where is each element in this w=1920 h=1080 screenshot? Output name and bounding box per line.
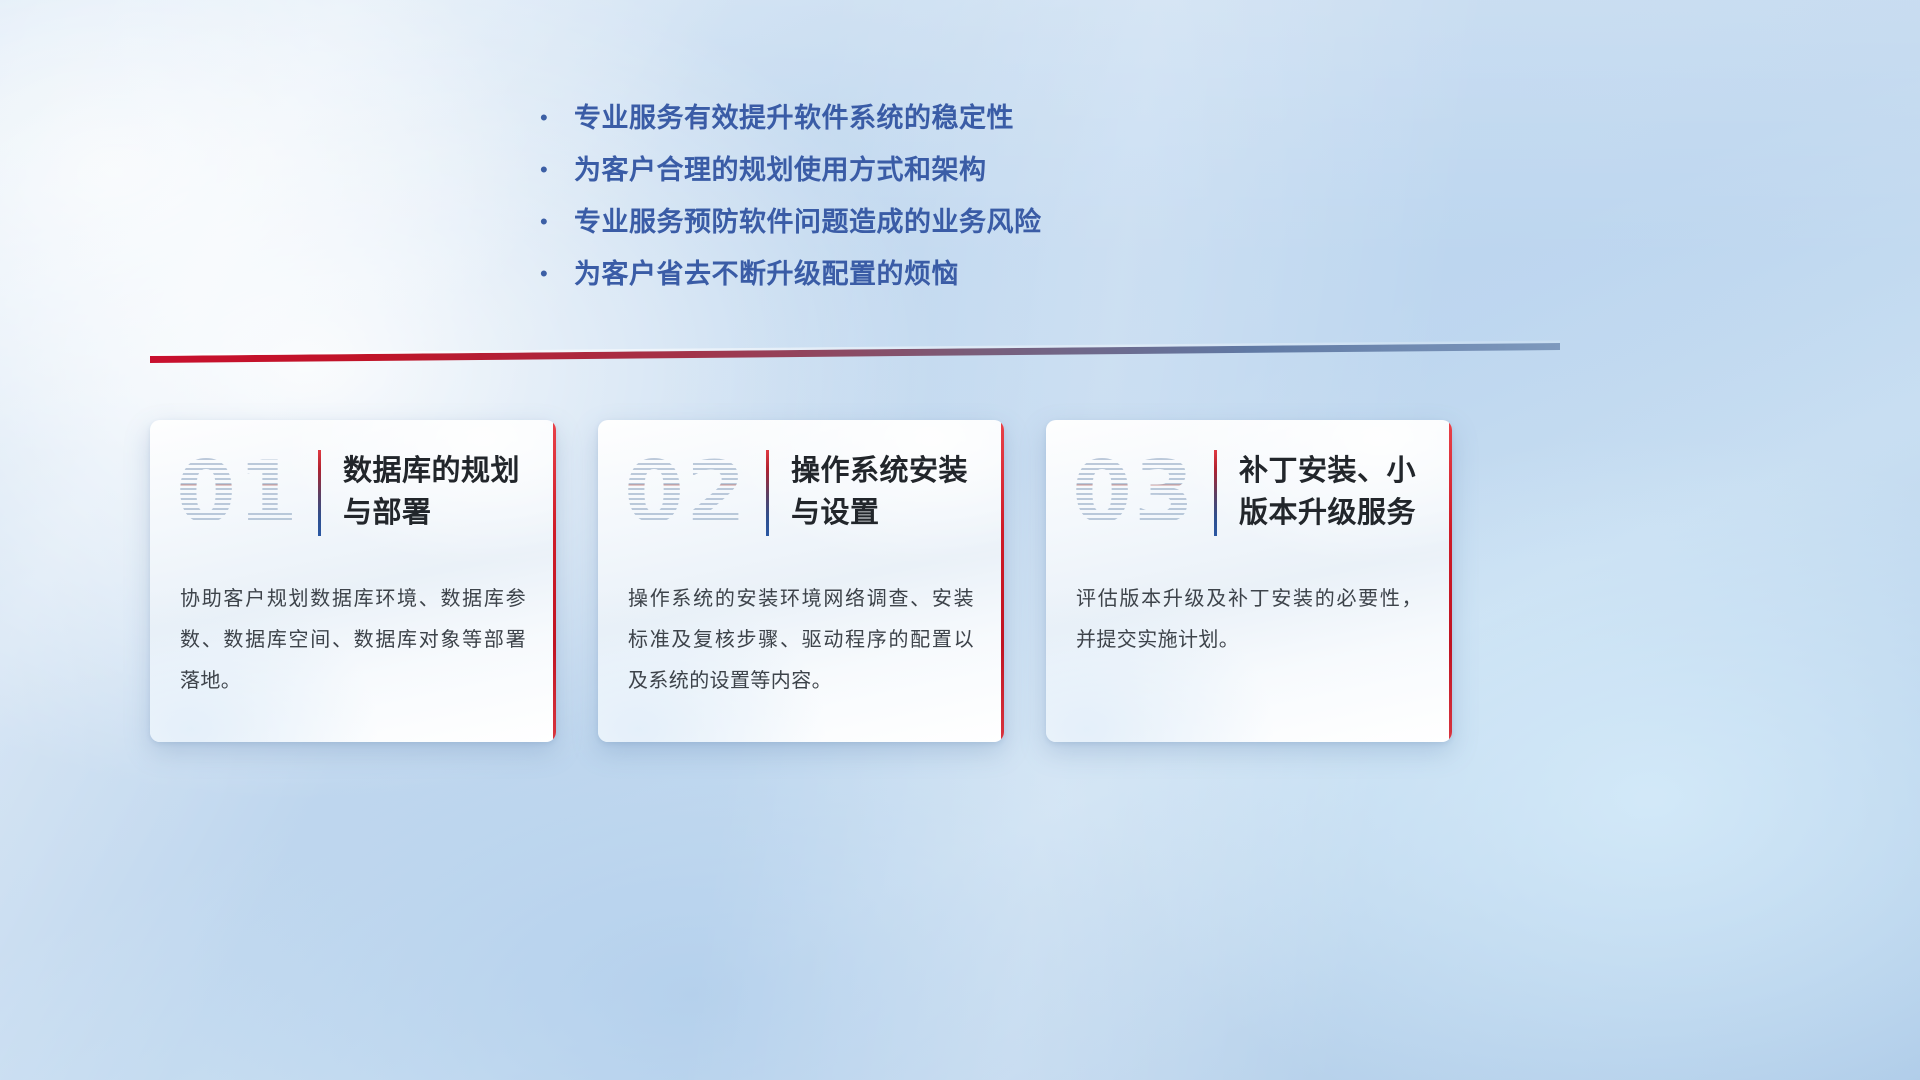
list-item: • 为客户合理的规划使用方式和架构	[540, 144, 1300, 196]
bullet-text: 为客户合理的规划使用方式和架构	[574, 144, 987, 196]
tapered-rule-icon	[150, 340, 1560, 366]
card-number-watermark: 02 02	[620, 438, 752, 548]
service-card-01[interactable]: 01 01 数据库的规划 与部署 协助客户规划数据库环境、数据库参数、数据库空间…	[150, 420, 556, 742]
card-title-accent-bar	[1214, 450, 1217, 536]
bullet-text: 专业服务有效提升软件系统的稳定性	[574, 92, 1014, 144]
bullet-dot-icon: •	[540, 248, 574, 300]
card-number-watermark: 03 03	[1068, 438, 1200, 548]
benefits-bullet-list: • 专业服务有效提升软件系统的稳定性 • 为客户合理的规划使用方式和架构 • 专…	[540, 92, 1300, 300]
bullet-dot-icon: •	[540, 196, 574, 248]
bullet-dot-icon: •	[540, 144, 574, 196]
card-number-watermark: 01 01	[172, 438, 304, 548]
card-number-glyph-tint: 02	[620, 438, 752, 548]
card-number-glyph-tint: 01	[172, 438, 304, 548]
list-item: • 为客户省去不断升级配置的烦恼	[540, 248, 1300, 300]
card-body-text: 评估版本升级及补丁安装的必要性，并提交实施计划。	[1046, 565, 1452, 661]
card-title: 数据库的规划 与部署	[343, 451, 520, 533]
bullet-dot-icon: •	[540, 92, 574, 144]
card-body-text: 协助客户规划数据库环境、数据库参数、数据库空间、数据库对象等部署落地。	[150, 565, 556, 702]
card-number-glyph-tint: 03	[1068, 438, 1200, 548]
card-header: 02 02 操作系统安装 与设置	[598, 420, 1004, 565]
card-title: 操作系统安装 与设置	[791, 451, 968, 533]
card-title-accent-bar	[766, 450, 769, 536]
card-header: 03 03 补丁安装、小 版本升级服务	[1046, 420, 1452, 565]
service-cards-row: 01 01 数据库的规划 与部署 协助客户规划数据库环境、数据库参数、数据库空间…	[150, 420, 1470, 745]
section-divider	[150, 340, 1560, 366]
bullet-text: 为客户省去不断升级配置的烦恼	[574, 248, 959, 300]
card-title-accent-bar	[318, 450, 321, 536]
bullet-text: 专业服务预防软件问题造成的业务风险	[574, 196, 1042, 248]
card-title: 补丁安装、小 版本升级服务	[1239, 451, 1416, 533]
service-card-03[interactable]: 03 03 补丁安装、小 版本升级服务 评估版本升级及补丁安装的必要性，并提交实…	[1046, 420, 1452, 742]
service-card-02[interactable]: 02 02 操作系统安装 与设置 操作系统的安装环境网络调查、安装标准及复核步骤…	[598, 420, 1004, 742]
list-item: • 专业服务有效提升软件系统的稳定性	[540, 92, 1300, 144]
card-header: 01 01 数据库的规划 与部署	[150, 420, 556, 565]
list-item: • 专业服务预防软件问题造成的业务风险	[540, 196, 1300, 248]
card-body-text: 操作系统的安装环境网络调查、安装标准及复核步骤、驱动程序的配置以及系统的设置等内…	[598, 565, 1004, 702]
